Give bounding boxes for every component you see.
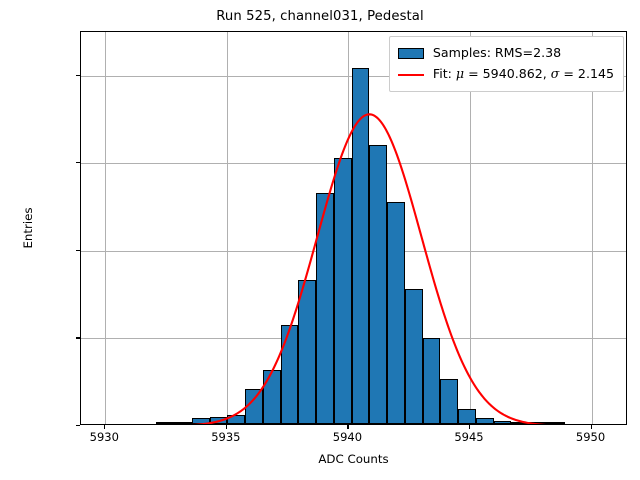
x-tick-mark: [226, 425, 227, 429]
legend-line-swatch-icon: [398, 74, 424, 76]
legend-fit-mu-value: = 5940.862,: [464, 66, 551, 81]
legend-label-samples: Samples: RMS=2.38: [433, 47, 561, 60]
x-tick-mark: [347, 425, 348, 429]
x-axis-label: ADC Counts: [80, 452, 627, 466]
y-tick-mark: [76, 337, 80, 338]
legend-fit-prefix: Fit:: [433, 66, 456, 81]
x-tick-mark: [104, 425, 105, 429]
legend-fit-mu-symbol: μ: [456, 66, 464, 81]
x-tick-label: 5935: [196, 430, 256, 444]
fit-curve-path: [81, 114, 627, 425]
y-tick-mark: [76, 162, 80, 163]
legend-entry-samples: Samples: RMS=2.38: [398, 43, 614, 64]
x-tick-mark: [591, 425, 592, 429]
x-tick-label: 5940: [317, 430, 377, 444]
legend-fit-sigma-value: = 2.145: [559, 66, 614, 81]
chart-figure: Run 525, channel031, Pedestal 5930593559…: [0, 0, 640, 480]
y-tick-mark: [76, 75, 80, 76]
legend-entry-fit: Fit: μ = 5940.862, σ = 2.145: [398, 64, 614, 85]
chart-title: Run 525, channel031, Pedestal: [0, 9, 640, 24]
y-axis-label: Entries: [21, 31, 37, 425]
x-tick-label: 5950: [561, 430, 621, 444]
legend-label-fit: Fit: μ = 5940.862, σ = 2.145: [433, 68, 614, 81]
legend-patch-swatch-icon: [398, 48, 424, 59]
chart-legend[interactable]: Samples: RMS=2.38 Fit: μ = 5940.862, σ =…: [389, 36, 624, 92]
x-tick-label: 5930: [74, 430, 134, 444]
y-tick-mark: [76, 425, 80, 426]
y-tick-mark: [76, 250, 80, 251]
x-tick-label: 5945: [439, 430, 499, 444]
x-tick-mark: [469, 425, 470, 429]
